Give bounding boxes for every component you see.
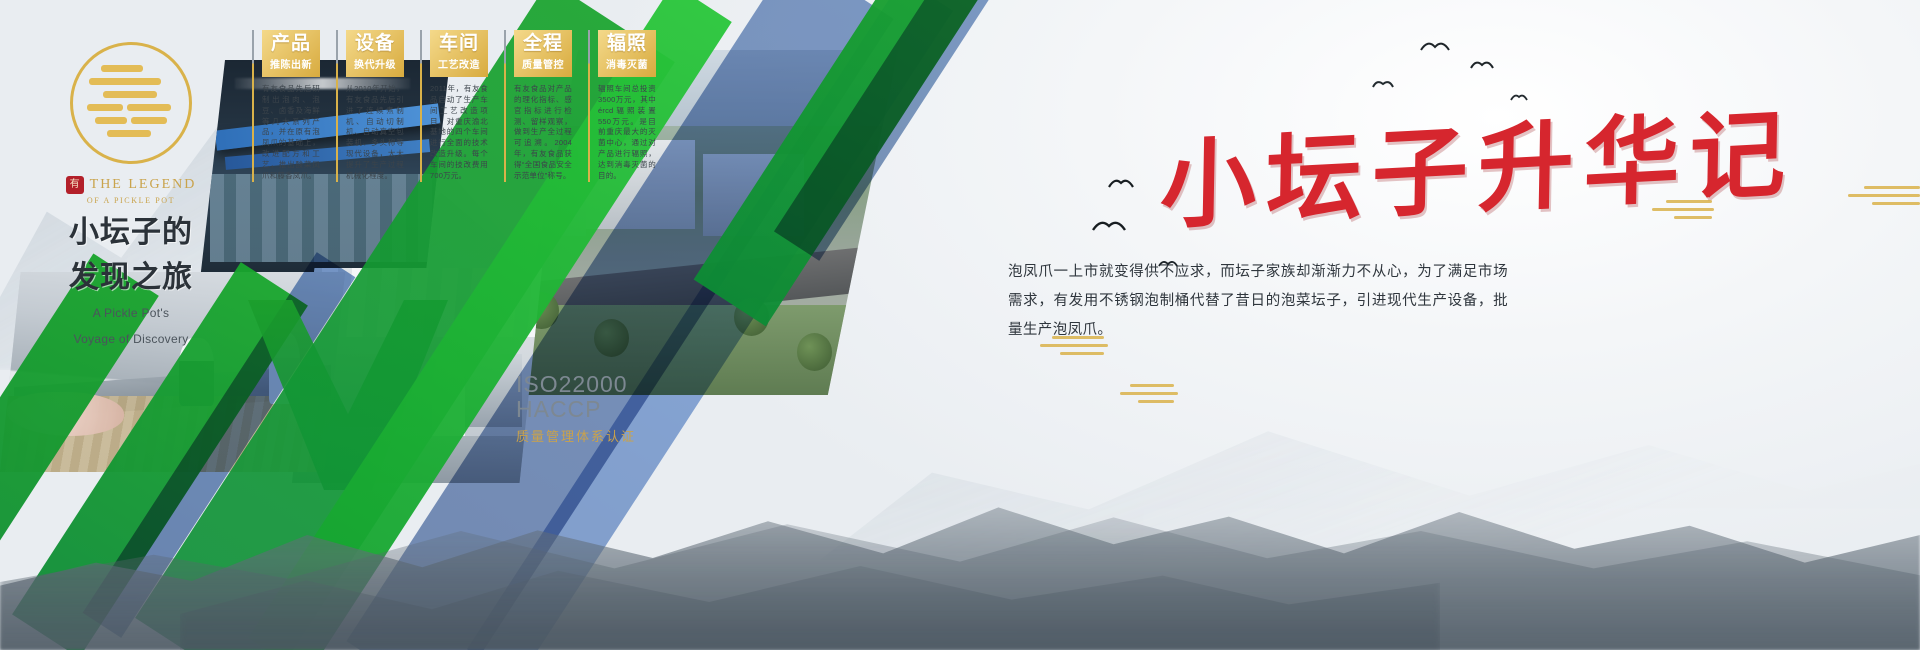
column-body-text: 从2010年开始，有友食品先后引进了连续煮制机、自动切制机、自动真空包装机、多头… — [346, 84, 404, 182]
column-rule — [420, 30, 422, 182]
column-rule — [504, 30, 506, 182]
info-column-group: 产品 推陈出新 有友食品先后研制出泡肉、泡豆、卤香及海鲜等几大系列产品，并在原有… — [252, 30, 656, 182]
gold-cloud-motif-icon — [1120, 384, 1178, 408]
bird-icon — [1158, 258, 1178, 269]
legend-logotype: 有 THE LEGEND — [26, 176, 236, 194]
bird-icon — [1470, 58, 1494, 71]
gold-cloud-motif-icon — [1848, 186, 1920, 210]
brand-seal-stamp-icon: 有 — [66, 176, 84, 194]
bird-icon — [1372, 78, 1394, 90]
column-caption: 全程 质量管控 — [514, 30, 572, 77]
column-rule — [252, 30, 254, 182]
column-caption: 车间 工艺改造 — [430, 30, 488, 77]
certification-haccp-label: HACCP — [516, 397, 636, 422]
column-body-text: 2011年，有友食品启动了生产车间工艺改造项目，对重庆渝北基地的四个车间进行全面… — [430, 84, 488, 182]
bird-icon — [1510, 92, 1528, 102]
brand-title-cn-line2: 发现之旅 — [26, 260, 236, 295]
column-rule — [588, 30, 590, 182]
column-body-text: 辐照车间总投资3500万元，其中ércd辐照装置550万元。是目前重庆最大的灭菌… — [598, 84, 656, 182]
bird-icon — [1420, 38, 1450, 54]
info-column-product: 产品 推陈出新 有友食品先后研制出泡肉、泡豆、卤香及海鲜等几大系列产品，并在原有… — [252, 30, 320, 182]
column-subheading: 质量管控 — [517, 56, 569, 71]
pickle-pot-emblem-icon — [70, 42, 192, 164]
poster-canvas: 有 THE LEGEND OF A PICKLE POT 小坛子的 发现之旅 A… — [0, 0, 1920, 650]
column-subheading: 工艺改造 — [433, 56, 485, 71]
brand-title-en-line2: Voyage of Discovery — [26, 330, 236, 348]
info-column-equipment: 设备 换代升级 从2010年开始，有友食品先后引进了连续煮制机、自动切制机、自动… — [336, 30, 404, 182]
info-column-workshop: 车间 工艺改造 2011年，有友食品启动了生产车间工艺改造项目，对重庆渝北基地的… — [420, 30, 488, 182]
info-column-irradiation: 辐照 消毒灭菌 辐照车间总投资3500万元，其中ércd辐照装置550万元。是目… — [588, 30, 656, 182]
column-caption: 设备 换代升级 — [346, 30, 404, 77]
certification-cn-label: 质量管理体系认证 — [516, 426, 636, 445]
bird-icon — [1092, 216, 1126, 234]
column-heading: 产品 — [265, 34, 317, 54]
certification-iso-label: ISO22000 — [516, 372, 636, 397]
column-subheading: 换代升级 — [349, 56, 401, 71]
certification-block: ISO22000 HACCP 质量管理体系认证 — [516, 372, 636, 445]
column-heading: 辐照 — [601, 34, 653, 54]
column-heading: 车间 — [433, 34, 485, 54]
bird-icon — [1108, 176, 1134, 190]
brand-block: 有 THE LEGEND OF A PICKLE POT 小坛子的 发现之旅 A… — [26, 42, 236, 348]
column-body-text: 有友食品先后研制出泡肉、泡豆、卤香及海鲜等几大系列产品，并在原有泡凤爪的基础上，… — [262, 84, 320, 182]
body-paragraph: 泡凤爪一上市就变得供不应求，而坛子家族却渐渐力不从心，为了满足市场需求，有发用不… — [1008, 258, 1508, 345]
column-subheading: 推陈出新 — [265, 56, 317, 71]
column-caption: 产品 推陈出新 — [262, 30, 320, 77]
column-body-text: 有友食品对产品的理化指标、感官指标进行检测、留样观察，做到生产全过程可追溯。20… — [514, 84, 572, 182]
logo-english-primary: THE LEGEND — [90, 177, 197, 193]
column-subheading: 消毒灭菌 — [601, 56, 653, 71]
logo-english-secondary: OF A PICKLE POT — [26, 196, 236, 205]
brand-title-cn-line1: 小坛子的 — [26, 215, 236, 250]
column-heading: 设备 — [349, 34, 401, 54]
brand-title-en-line1: A Pickle Pot's — [26, 304, 236, 322]
column-heading: 全程 — [517, 34, 569, 54]
column-rule — [336, 30, 338, 182]
column-caption: 辐照 消毒灭菌 — [598, 30, 656, 77]
info-column-quality: 全程 质量管控 有友食品对产品的理化指标、感官指标进行检测、留样观察，做到生产全… — [504, 30, 572, 182]
